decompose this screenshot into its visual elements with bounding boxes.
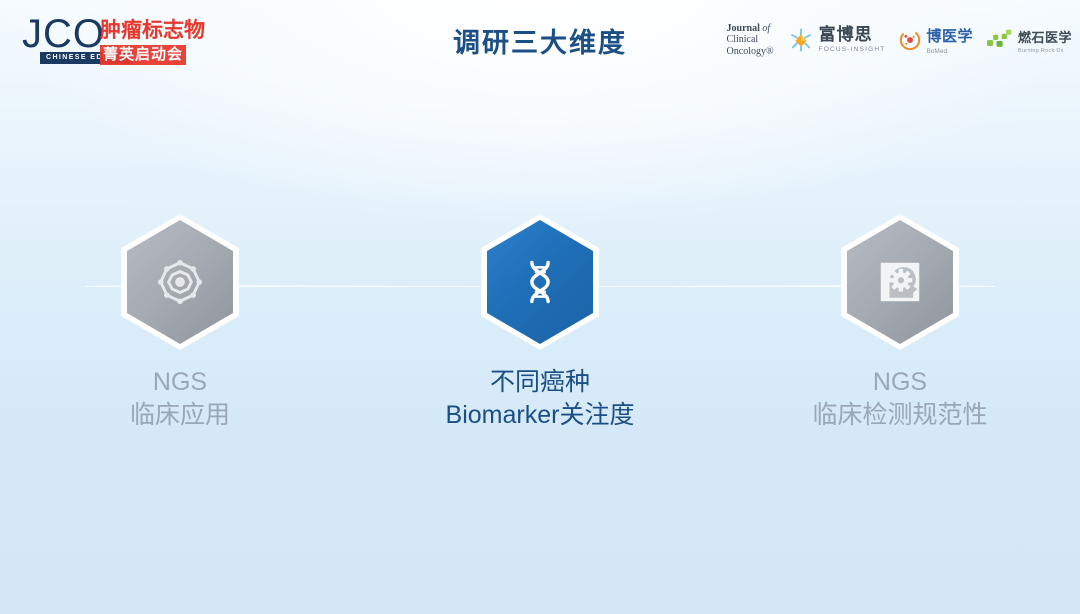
focus-insight-en: FOCUS-INSIGHT [819,47,886,54]
jco-journal-line2: Clinical [727,34,774,46]
jco-journal-line1: Journal [727,23,760,34]
bomed-text: 博医学 BoMed [926,25,973,55]
dimension-label-line2: 临床应用 [130,399,230,432]
dimension-node-biomarker-attention[interactable]: 不同癌种 Biomarker关注度 [360,214,720,444]
dimension-node-group: NGS 临床应用 [0,214,1080,444]
bomed-cn: 博医学 [926,25,973,46]
dimension-label: NGS 临床应用 [130,366,230,432]
dimension-node-ngs-testing-standardization[interactable]: NGS 临床检测规范性 [720,214,1080,444]
burning-rock-en: Burning Rock Dx [1018,48,1072,54]
jco-journal-line3: Oncology® [727,46,774,58]
dimension-label-line2: Biomarker关注度 [446,399,635,432]
head-gear-icon [841,214,959,350]
jco-journal-of: of [762,23,770,34]
dimension-label-line2: 临床检测规范性 [812,399,987,432]
burning-rock-cn: 燃石医学 [1018,27,1072,46]
hexagon-badge-active[interactable] [481,214,599,350]
bomed-en: BoMed [926,48,973,55]
dimension-label: 不同癌种 Biomarker关注度 [446,366,635,432]
dimension-label-line1: NGS [130,366,230,399]
burning-rock-text: 燃石医学 Burning Rock Dx [1018,27,1072,54]
bomed-circle-icon [899,29,921,51]
journal-of-clinical-oncology-logo: Journal of Clinical Oncology® [727,23,774,58]
focus-insight-logo: 富博思 FOCUS-INSIGHT [788,26,886,54]
focus-insight-text: 富博思 FOCUS-INSIGHT [819,26,886,54]
dimension-node-ngs-clinical-application[interactable]: NGS 临床应用 [0,214,360,444]
slide-canvas: JCO CHINESE EDITION 肿瘤标志物 菁英启动会 调研三大维度 J… [0,0,1080,614]
hexagon-badge[interactable] [121,214,239,350]
partner-logo-strip: Journal of Clinical Oncology® [727,16,1072,64]
bomed-logo: 博医学 BoMed [899,25,973,55]
focus-insight-starburst-icon [788,27,814,53]
dimension-label-line1: 不同癌种 [446,366,635,399]
jco-journal-text: Journal of Clinical Oncology® [727,23,774,58]
hexagon-badge[interactable] [841,214,959,350]
focus-insight-cn: 富博思 [819,25,873,44]
network-molecule-icon [121,214,239,350]
burning-rock-blocks-icon [987,29,1013,51]
dna-helix-icon [481,214,599,350]
burning-rock-logo: 燃石医学 Burning Rock Dx [987,27,1072,54]
dimension-label: NGS 临床检测规范性 [812,366,987,432]
dimension-label-line1: NGS [812,366,987,399]
slide-header: JCO CHINESE EDITION 肿瘤标志物 菁英启动会 调研三大维度 J… [0,0,1080,78]
